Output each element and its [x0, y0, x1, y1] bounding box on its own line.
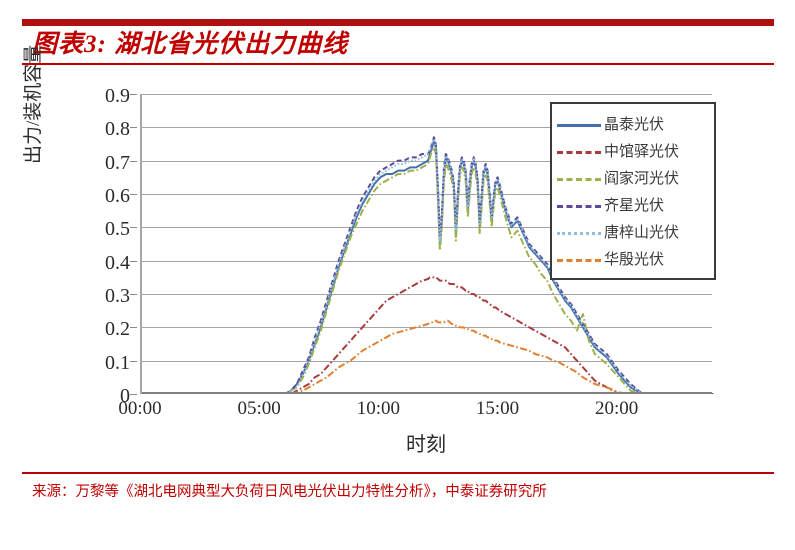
legend-label: 阎家河光伏 — [604, 167, 679, 188]
y-tick-label: 0.4 — [60, 253, 130, 273]
series-line — [142, 277, 714, 394]
figure-page: 图表3: 湖北省光伏出力曲线 0.90.80.70.60.50.40.30.20… — [0, 0, 795, 550]
y-tick-mark — [130, 227, 137, 228]
source-note: 来源：万黎等《湖北电网典型大负荷日风电光伏出力特性分析》，中泰证券研究所 — [32, 480, 762, 504]
chart-container: 0.90.80.70.60.50.40.30.20.10 出力/装机容量 00:… — [22, 72, 774, 464]
x-tick-label: 20:00 — [595, 398, 638, 420]
legend-swatch-dashed — [557, 199, 601, 211]
y-axis-title: 出力/装机容量 — [18, 45, 45, 164]
x-axis-title: 时刻 — [140, 428, 712, 457]
y-tick-mark — [130, 94, 137, 95]
legend-item[interactable]: 阎家河光伏 — [557, 164, 709, 191]
legend-label: 齐星光伏 — [604, 194, 664, 215]
y-tick-label: 0.8 — [60, 119, 130, 139]
y-tick-label: 0.3 — [60, 286, 130, 306]
x-tick-label: 10:00 — [357, 398, 400, 420]
x-tick-label: 00:00 — [118, 398, 161, 420]
legend-item[interactable]: 齐星光伏 — [557, 191, 709, 218]
page-title: 图表3: 湖北省光伏出力曲线 — [32, 28, 732, 62]
legend-label: 华殷光伏 — [604, 248, 664, 269]
x-axis-line — [142, 392, 712, 394]
y-tick-label: 0.2 — [60, 319, 130, 339]
header-top-rule — [22, 19, 774, 26]
legend-swatch-dashdot — [557, 172, 601, 184]
legend-label: 唐梓山光伏 — [604, 221, 679, 242]
footer-rule — [22, 472, 774, 474]
x-tick-label: 15:00 — [476, 398, 519, 420]
y-tick-label: 0.5 — [60, 219, 130, 239]
y-tick-mark — [130, 394, 137, 395]
legend-item[interactable]: 中馆驿光伏 — [557, 137, 709, 164]
legend-label: 中馆驿光伏 — [604, 140, 679, 161]
y-tick-label: 0.9 — [60, 86, 130, 106]
y-tick-mark — [130, 327, 137, 328]
y-tick-mark — [130, 294, 137, 295]
legend-item[interactable]: 唐梓山光伏 — [557, 218, 709, 245]
y-axis-labels: 0.90.80.70.60.50.40.30.20.10 — [52, 84, 136, 404]
y-tick-label: 0.7 — [60, 153, 130, 173]
legend-label: 晶泰光伏 — [604, 113, 664, 134]
x-tick-label: 05:00 — [238, 398, 281, 420]
legend-item[interactable]: 晶泰光伏 — [557, 110, 709, 137]
legend-swatch-dotted — [557, 226, 601, 238]
y-tick-label: 0.6 — [60, 186, 130, 206]
chart-legend: 晶泰光伏中馆驿光伏阎家河光伏齐星光伏唐梓山光伏华殷光伏 — [550, 102, 716, 280]
y-tick-mark — [130, 161, 137, 162]
y-tick-mark — [130, 194, 137, 195]
y-tick-mark — [130, 361, 137, 362]
legend-swatch-dashdot — [557, 145, 601, 157]
y-tick-mark — [130, 261, 137, 262]
legend-swatch-dashdot — [557, 253, 601, 265]
legend-swatch-solid — [557, 118, 601, 130]
x-axis-labels: 00:0005:0010:0015:0020:00 — [140, 398, 740, 428]
y-tick-mark — [130, 127, 137, 128]
header-bottom-rule — [22, 63, 774, 65]
legend-item[interactable]: 华殷光伏 — [557, 245, 709, 272]
y-tick-label: 0.1 — [60, 353, 130, 373]
